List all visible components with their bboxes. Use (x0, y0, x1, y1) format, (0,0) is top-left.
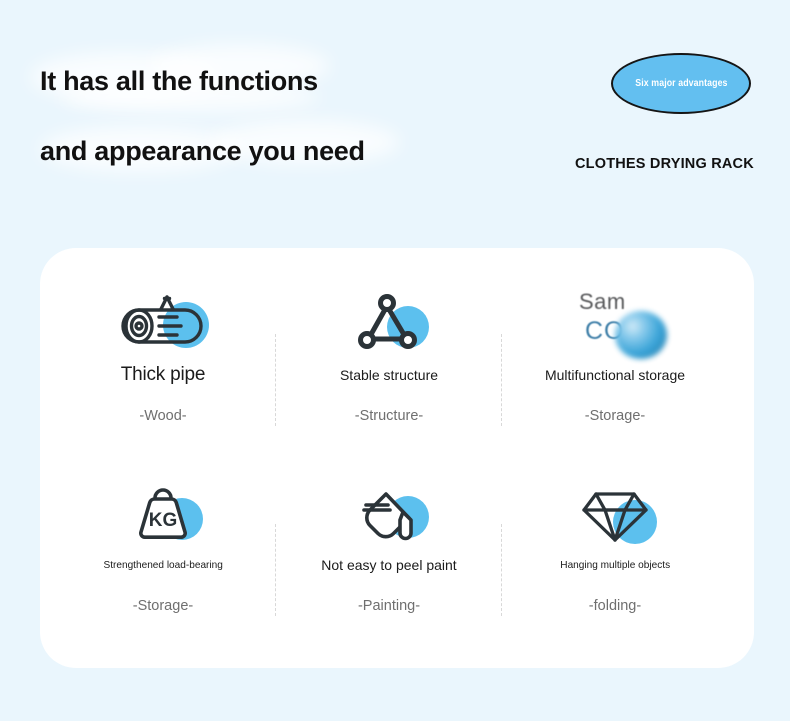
feature-subtitle: -Wood- (50, 408, 276, 424)
feature-title: Stable structure (340, 367, 438, 383)
diamond-icon (502, 474, 728, 552)
feature-subtitle: -Storage- (50, 598, 276, 614)
wood-log-icon (50, 284, 276, 362)
kg-weight-icon: KG (50, 474, 276, 552)
features-card: Thick pipe -Wood- Stable structure -Stru… (40, 248, 754, 668)
feature-subtitle: -Structure- (276, 408, 502, 424)
features-grid: Thick pipe -Wood- Stable structure -Stru… (40, 248, 754, 668)
feature-title: Thick pipe (121, 364, 206, 386)
badge-label: Six major advantages (635, 78, 727, 89)
feature-title: Not easy to peel paint (321, 557, 456, 573)
six-major-advantages-badge: Six major advantages (611, 53, 751, 114)
feature-title: Multifunctional storage (545, 367, 685, 383)
feature-item[interactable]: Sam CO Multifunctional storage -Storage- (502, 284, 728, 424)
logo-text-line-1: Sam (579, 289, 626, 315)
feature-item[interactable]: Stable structure -Structure- (276, 284, 502, 424)
feature-item[interactable]: Not easy to peel paint -Painting- (276, 474, 502, 614)
weight-label: KG (149, 510, 178, 531)
sam-co-logo-icon: Sam CO (502, 284, 728, 362)
feature-item[interactable]: Thick pipe -Wood- (50, 284, 276, 424)
feature-item[interactable]: Hanging multiple objects -folding- (502, 474, 728, 614)
feature-subtitle: -Storage- (502, 408, 728, 424)
feature-title: Strengthened load-bearing (103, 559, 222, 571)
blue-sphere-icon (615, 311, 667, 359)
feature-subtitle: -folding- (502, 598, 728, 614)
brand-name: CLOTHES DRYING RACK (575, 156, 754, 172)
page-title: It has all the functions and appearance … (40, 46, 560, 186)
paint-peel-icon (276, 474, 502, 552)
headline-line-1: It has all the functions (40, 46, 560, 116)
feature-title: Hanging multiple objects (560, 559, 670, 571)
feature-item[interactable]: KG Strengthened load-bearing -Storage- (50, 474, 276, 614)
feature-subtitle: -Painting- (276, 598, 502, 614)
triangle-structure-icon (276, 284, 502, 362)
headline-line-2: and appearance you need (40, 116, 560, 186)
